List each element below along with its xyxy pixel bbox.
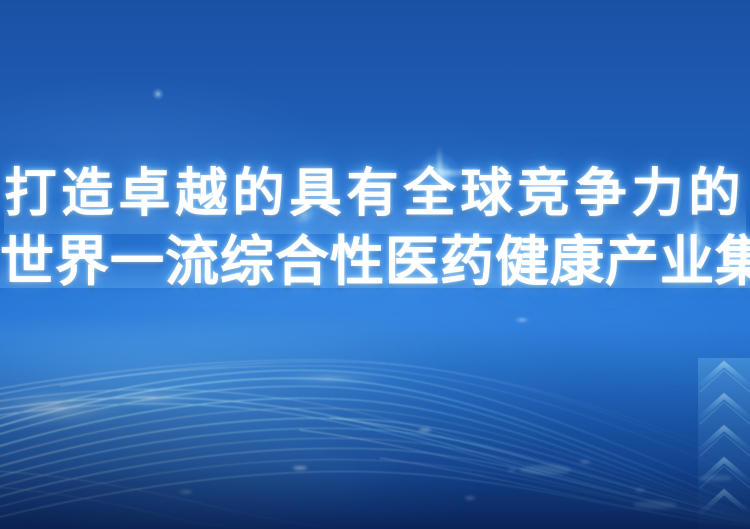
headline-block: 打造卓越的具有全球竞争力的 世界一流综合性医药健康产业集团 xyxy=(0,168,750,288)
chevron-column-icon xyxy=(688,352,750,529)
headline-line-2: 世界一流综合性医药健康产业集团 xyxy=(0,234,750,288)
headline-line-2-wrap: 世界一流综合性医药健康产业集团 xyxy=(0,234,750,288)
headline-line-1: 打造卓越的具有全球竞争力的 xyxy=(4,168,745,220)
promo-banner: 打造卓越的具有全球竞争力的 世界一流综合性医药健康产业集团 xyxy=(0,0,750,529)
headline-line-1-wrap: 打造卓越的具有全球竞争力的 xyxy=(4,168,745,234)
